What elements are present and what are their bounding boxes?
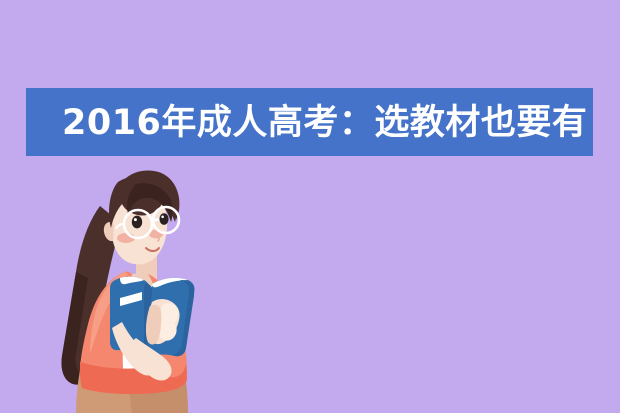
eye-right [159, 213, 168, 225]
poster-canvas: 2016年成人高考：选教材也要有 [0, 0, 620, 413]
eye-left [132, 216, 142, 229]
eye-left-highlight [134, 218, 137, 221]
eye-right-highlight [161, 216, 164, 219]
girl-reading-book-illustration [40, 160, 225, 413]
illustration-svg [40, 160, 225, 413]
page-title: 2016年成人高考：选教材也要有 [62, 96, 602, 150]
